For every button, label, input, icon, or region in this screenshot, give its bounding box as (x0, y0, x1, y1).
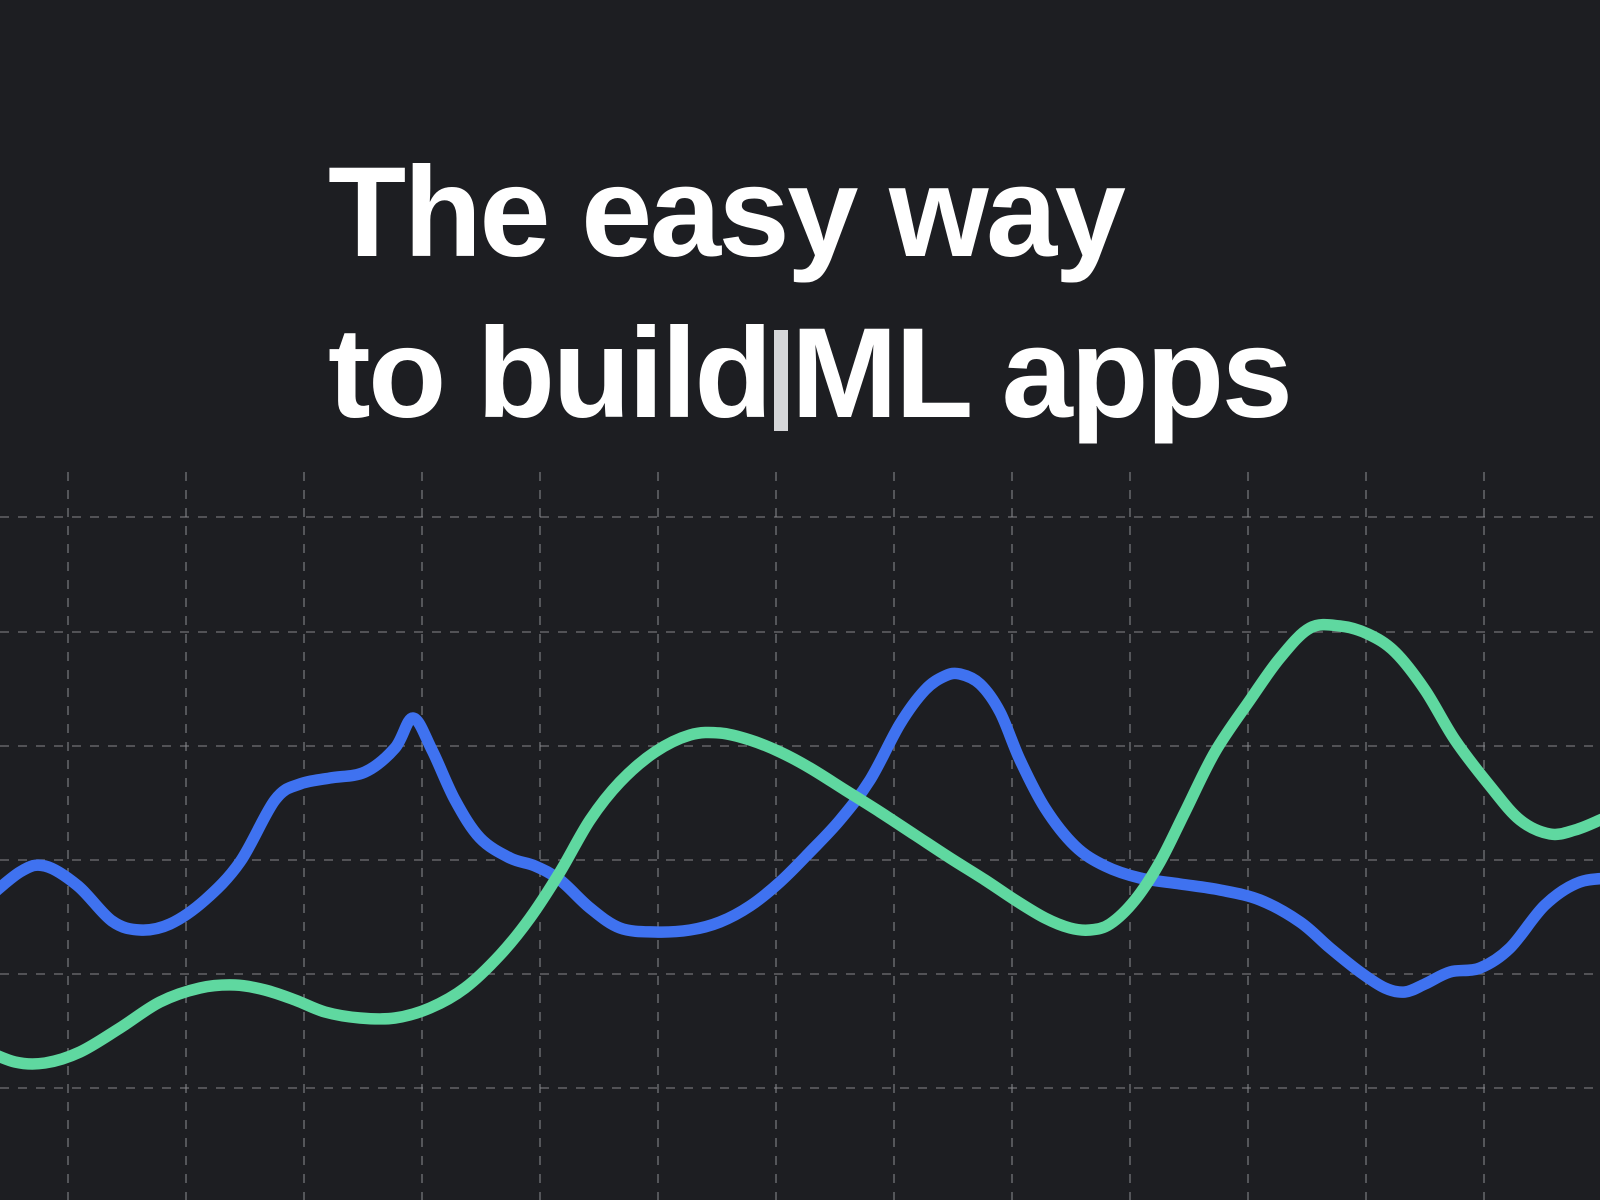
hero-banner: The easy way to buildML apps (0, 0, 1600, 1200)
chart-line-series-green (0, 625, 1600, 1064)
background-line-chart (0, 0, 1600, 1200)
chart-svg (0, 0, 1600, 1200)
chart-line-series-blue (0, 673, 1600, 992)
chart-series-group (0, 625, 1600, 1064)
chart-gridlines (0, 472, 1600, 1200)
